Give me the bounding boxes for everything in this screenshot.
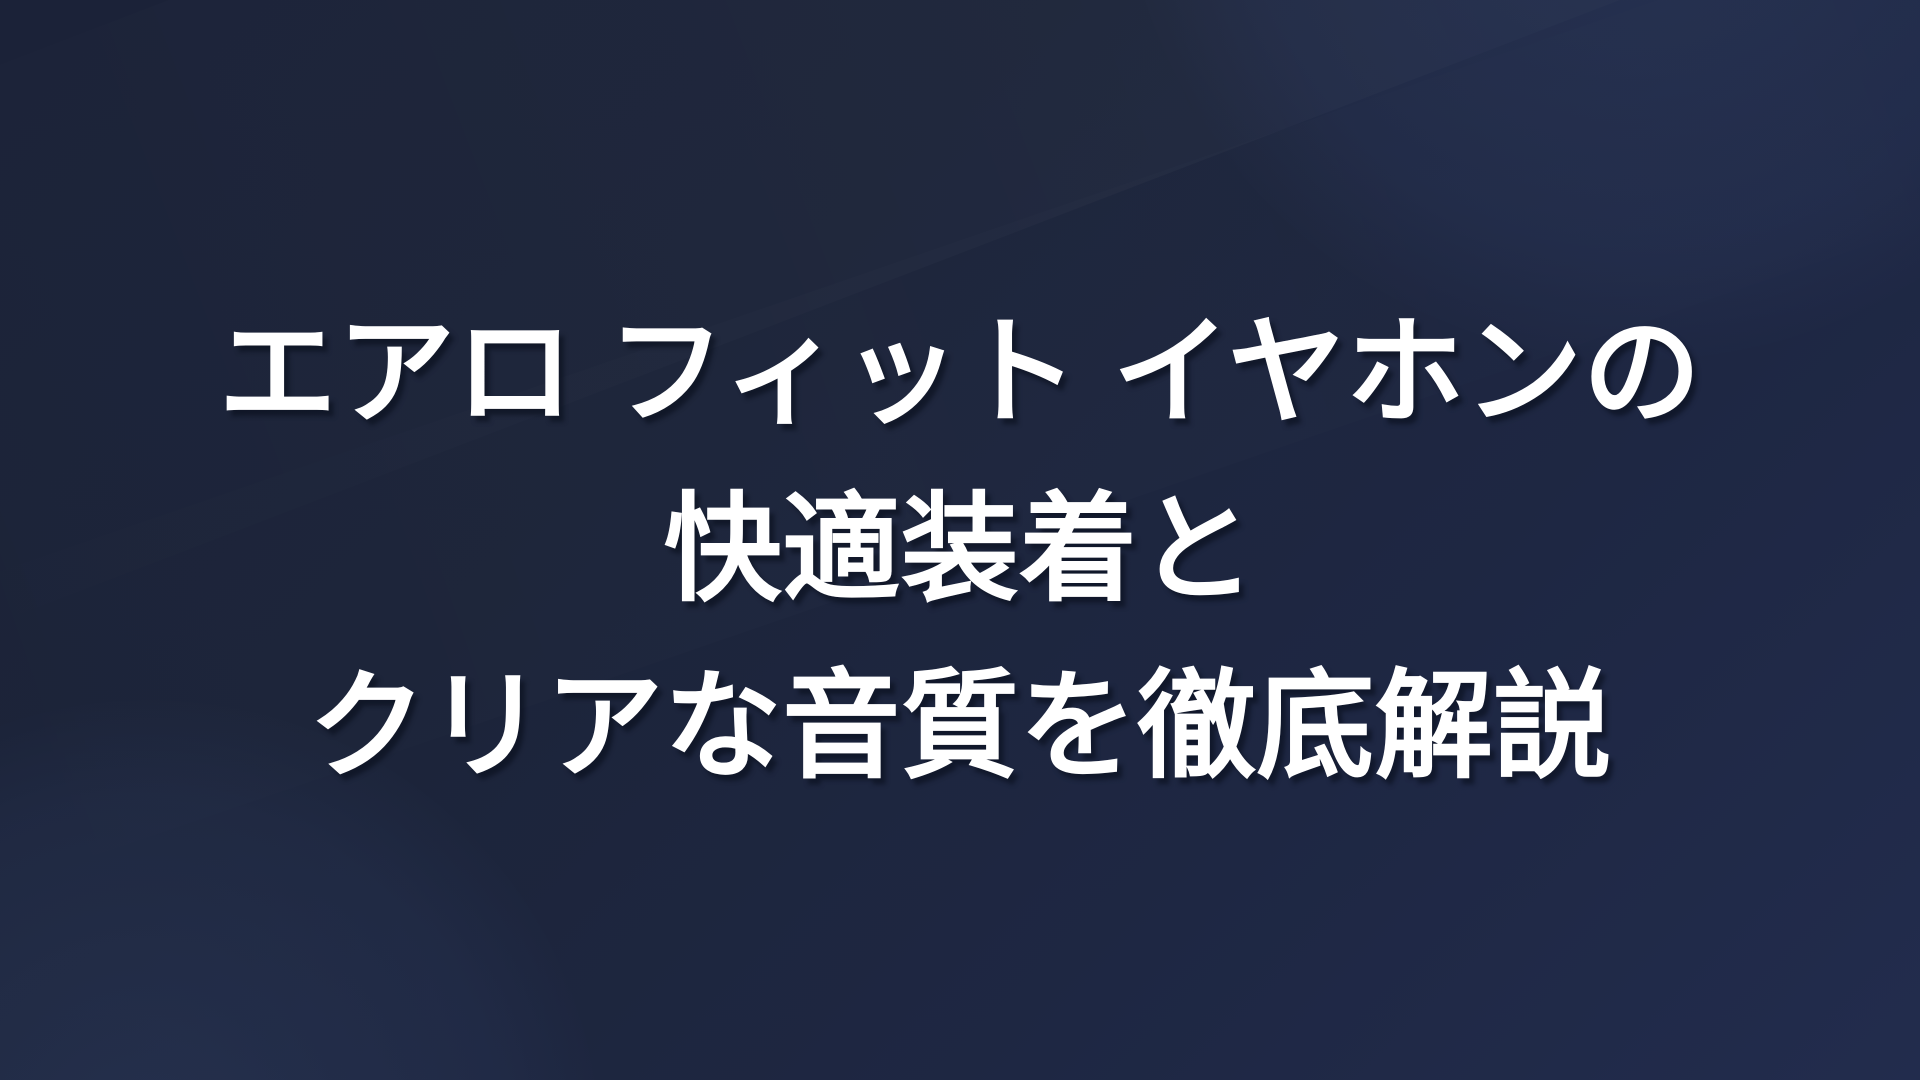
slide-canvas: エアロ フィット イヤホンの 快適装着と クリアな音質を徹底解説 xyxy=(0,0,1920,1080)
title-line-3: クリアな音質を徹底解説 xyxy=(308,639,1612,816)
title-block: エアロ フィット イヤホンの 快適装着と クリアな音質を徹底解説 xyxy=(0,0,1920,1080)
title-line-1: エアロ フィット イヤホンの xyxy=(219,285,1702,462)
title-line-2: 快適装着と xyxy=(664,462,1257,639)
